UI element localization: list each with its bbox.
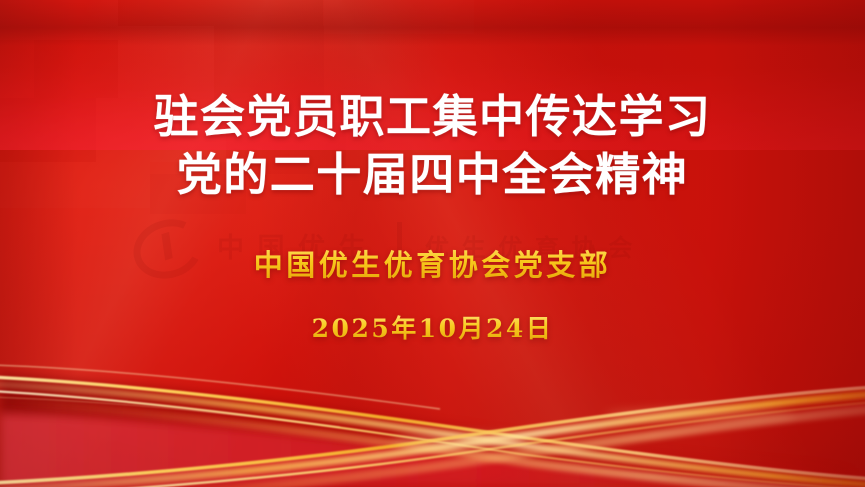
organization-subtitle: 中国优生优育协会党支部 bbox=[254, 242, 612, 284]
title-line-1: 驻会党员职工集中传达学习 bbox=[153, 88, 711, 146]
title-line-2: 党的二十届四中全会精神 bbox=[153, 146, 711, 204]
poster-title: 驻会党员职工集中传达学习 党的二十届四中全会精神 bbox=[153, 88, 711, 204]
poster-canvas: 中 国 优 生 优 生 优 育 协 会 bbox=[0, 0, 865, 487]
event-date: 2025年10月24日 bbox=[312, 309, 554, 345]
poster-content: 驻会党员职工集中传达学习 党的二十届四中全会精神 中国优生优育协会党支部 202… bbox=[0, 0, 865, 487]
